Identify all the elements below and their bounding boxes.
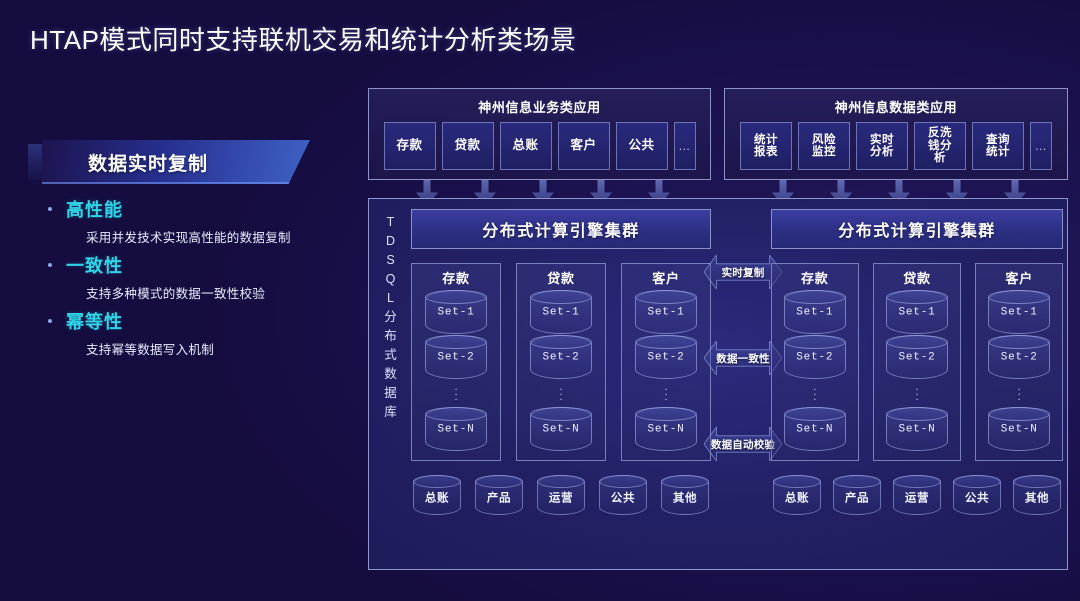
database-label: 产品 bbox=[834, 489, 880, 505]
feature-bullet-list: 高性能 采用并发技术实现高性能的数据复制 一致性 支持多种模式的数据一致性校验 … bbox=[28, 196, 358, 358]
set-column: 贷款 Set-1 Set-2 ... Set-N bbox=[516, 263, 606, 461]
set-column-row: 存款 Set-1 Set-2 ... Set-N 贷款 Set-1 Set-2 … bbox=[771, 263, 1063, 461]
badge-wrapper: 数据一致性 bbox=[709, 341, 777, 375]
badge-wrapper: 实时复制 bbox=[709, 255, 777, 289]
set-label: Set-N bbox=[887, 424, 947, 436]
page-title: HTAP模式同时支持联机交易和统计分析类场景 bbox=[30, 20, 576, 57]
app-cell[interactable]: 统计 报表 bbox=[740, 122, 792, 170]
list-item: 幂等性 支持幂等数据写入机制 bbox=[28, 308, 358, 358]
database-cylinder-icon[interactable]: 产品 bbox=[475, 475, 523, 515]
database-cylinder-icon[interactable]: 总账 bbox=[413, 475, 461, 515]
badge-wrapper: 数据自动校验 bbox=[709, 427, 777, 461]
replication-badge-column: 实时复制 数据一致性 数据自动校验 bbox=[709, 209, 777, 561]
database-cylinder-icon[interactable]: 其他 bbox=[1013, 475, 1061, 515]
set-label: Set-N bbox=[989, 424, 1049, 436]
bullet-description: 采用并发技术实现高性能的数据复制 bbox=[86, 227, 358, 246]
set-label: Set-2 bbox=[785, 352, 845, 364]
vertical-ellipsis-icon: ... bbox=[772, 380, 858, 406]
set-label: Set-1 bbox=[887, 307, 947, 319]
database-cylinder-icon[interactable]: Set-2 bbox=[425, 335, 487, 379]
app-cell[interactable]: 客户 bbox=[558, 122, 610, 170]
database-label: 公共 bbox=[600, 489, 646, 505]
bullet-description: 支持多种模式的数据一致性校验 bbox=[86, 283, 358, 302]
set-column-title: 存款 bbox=[772, 268, 858, 287]
database-cylinder-icon[interactable]: 公共 bbox=[599, 475, 647, 515]
database-label: 产品 bbox=[476, 489, 522, 505]
bullet-heading-row: 一致性 bbox=[28, 252, 358, 278]
vertical-ellipsis-icon: ... bbox=[976, 380, 1062, 406]
app-group-title: 神州信息数据类应用 bbox=[725, 97, 1067, 116]
vertical-ellipsis-icon: ... bbox=[874, 380, 960, 406]
app-cell[interactable]: 公共 bbox=[616, 122, 668, 170]
database-cylinder-icon[interactable]: Set-1 bbox=[784, 290, 846, 334]
vertical-ellipsis-icon: ... bbox=[412, 380, 500, 406]
database-label: 运营 bbox=[894, 489, 940, 505]
database-label: 其他 bbox=[1014, 489, 1060, 505]
database-cylinder-icon[interactable]: Set-2 bbox=[886, 335, 948, 379]
vertical-ellipsis-icon: ... bbox=[622, 380, 710, 406]
database-cylinder-icon[interactable]: Set-N bbox=[886, 407, 948, 451]
list-item: 高性能 采用并发技术实现高性能的数据复制 bbox=[28, 196, 358, 246]
platform-half-left: 分布式计算引擎集群 存款 Set-1 Set-2 ... Set-N 贷款 Se… bbox=[411, 209, 711, 561]
set-label: Set-1 bbox=[531, 307, 591, 319]
tdsql-platform-panel: T D S Q L 分 布 式 数 据 库 分布式计算引擎集群 存款 Set-1… bbox=[368, 198, 1068, 570]
app-cell[interactable]: 风险 监控 bbox=[798, 122, 850, 170]
app-cell-row: 统计 报表 风险 监控 实时 分析 反洗 钱分 析 查询 统计 ... bbox=[725, 116, 1067, 170]
bullet-title: 幂等性 bbox=[66, 308, 123, 334]
database-label: 总账 bbox=[774, 489, 820, 505]
compute-engine-cluster[interactable]: 分布式计算引擎集群 bbox=[771, 209, 1063, 249]
vertical-ellipsis-icon: ... bbox=[517, 380, 605, 406]
bullet-heading-row: 幂等性 bbox=[28, 308, 358, 334]
database-cylinder-icon[interactable]: Set-2 bbox=[635, 335, 697, 379]
bullet-dot-icon bbox=[48, 263, 52, 267]
database-cylinder-icon[interactable]: Set-1 bbox=[635, 290, 697, 334]
banner-shape: 数据实时复制 bbox=[42, 140, 310, 184]
shared-database-row: 总账 产品 运营 公共 其他 bbox=[411, 475, 711, 515]
database-cylinder-icon[interactable]: Set-1 bbox=[886, 290, 948, 334]
app-group-data: 神州信息数据类应用 统计 报表 风险 监控 实时 分析 反洗 钱分 析 查询 统… bbox=[724, 88, 1068, 180]
database-label: 公共 bbox=[954, 489, 1000, 505]
app-cell-more[interactable]: ... bbox=[1030, 122, 1052, 170]
database-cylinder-icon[interactable]: Set-N bbox=[530, 407, 592, 451]
app-cell[interactable]: 反洗 钱分 析 bbox=[914, 122, 966, 170]
set-label: Set-N bbox=[785, 424, 845, 436]
set-column: 存款 Set-1 Set-2 ... Set-N bbox=[411, 263, 501, 461]
set-column-title: 贷款 bbox=[517, 268, 605, 287]
set-column: 存款 Set-1 Set-2 ... Set-N bbox=[771, 263, 859, 461]
database-cylinder-icon[interactable]: 公共 bbox=[953, 475, 1001, 515]
set-label: Set-2 bbox=[531, 352, 591, 364]
database-cylinder-icon[interactable]: Set-2 bbox=[530, 335, 592, 379]
bullet-description: 支持幂等数据写入机制 bbox=[86, 339, 358, 358]
database-label: 运营 bbox=[538, 489, 584, 505]
set-label: Set-1 bbox=[636, 307, 696, 319]
bullet-dot-icon bbox=[48, 319, 52, 323]
set-label: Set-1 bbox=[989, 307, 1049, 319]
set-label: Set-1 bbox=[785, 307, 845, 319]
app-cell[interactable]: 实时 分析 bbox=[856, 122, 908, 170]
set-column: 客户 Set-1 Set-2 ... Set-N bbox=[975, 263, 1063, 461]
set-label: Set-1 bbox=[426, 307, 486, 319]
set-label: Set-2 bbox=[426, 352, 486, 364]
app-group-business: 神州信息业务类应用 存款 贷款 总账 客户 公共 ... bbox=[368, 88, 711, 180]
database-cylinder-icon[interactable]: 其他 bbox=[661, 475, 709, 515]
set-label: Set-2 bbox=[887, 352, 947, 364]
section-banner: 数据实时复制 bbox=[28, 140, 358, 184]
app-cell[interactable]: 存款 bbox=[384, 122, 436, 170]
database-cylinder-icon[interactable]: Set-N bbox=[784, 407, 846, 451]
left-content-panel: 数据实时复制 高性能 采用并发技术实现高性能的数据复制 一致性 支持多种模式的数… bbox=[28, 140, 358, 364]
bullet-title: 高性能 bbox=[66, 196, 123, 222]
database-cylinder-icon[interactable]: Set-1 bbox=[425, 290, 487, 334]
database-label: 其他 bbox=[662, 489, 708, 505]
set-label: Set-2 bbox=[989, 352, 1049, 364]
database-cylinder-icon[interactable]: 产品 bbox=[833, 475, 881, 515]
database-cylinder-icon[interactable]: Set-N bbox=[988, 407, 1050, 451]
set-column: 贷款 Set-1 Set-2 ... Set-N bbox=[873, 263, 961, 461]
set-label: Set-N bbox=[426, 424, 486, 436]
set-column-title: 客户 bbox=[976, 268, 1062, 287]
database-cylinder-icon[interactable]: Set-1 bbox=[530, 290, 592, 334]
set-column-row: 存款 Set-1 Set-2 ... Set-N 贷款 Set-1 Set-2 … bbox=[411, 263, 711, 461]
database-cylinder-icon[interactable]: 运营 bbox=[893, 475, 941, 515]
banner-label: 数据实时复制 bbox=[88, 149, 208, 176]
set-label: Set-N bbox=[636, 424, 696, 436]
list-item: 一致性 支持多种模式的数据一致性校验 bbox=[28, 252, 358, 302]
bullet-heading-row: 高性能 bbox=[28, 196, 358, 222]
database-cylinder-icon[interactable]: Set-2 bbox=[784, 335, 846, 379]
app-cell[interactable]: 查询 统计 bbox=[972, 122, 1024, 170]
database-cylinder-icon[interactable]: 总账 bbox=[773, 475, 821, 515]
database-cylinder-icon[interactable]: Set-N bbox=[425, 407, 487, 451]
database-cylinder-icon[interactable]: Set-1 bbox=[988, 290, 1050, 334]
app-cell-more[interactable]: ... bbox=[674, 122, 696, 170]
database-cylinder-icon[interactable]: 运营 bbox=[537, 475, 585, 515]
database-cylinder-icon[interactable]: Set-N bbox=[635, 407, 697, 451]
app-cell[interactable]: 总账 bbox=[500, 122, 552, 170]
set-column: 客户 Set-1 Set-2 ... Set-N bbox=[621, 263, 711, 461]
app-group-title: 神州信息业务类应用 bbox=[369, 97, 710, 116]
set-column-title: 贷款 bbox=[874, 268, 960, 287]
compute-engine-cluster[interactable]: 分布式计算引擎集群 bbox=[411, 209, 711, 249]
platform-vertical-label: T D S Q L 分 布 式 数 据 库 bbox=[379, 213, 403, 422]
architecture-diagram: 神州信息业务类应用 存款 贷款 总账 客户 公共 ... 神州信息数据类应用 统… bbox=[368, 88, 1068, 570]
platform-half-right: 分布式计算引擎集群 存款 Set-1 Set-2 ... Set-N 贷款 Se… bbox=[771, 209, 1063, 561]
app-cell-row: 存款 贷款 总账 客户 公共 ... bbox=[369, 116, 710, 170]
app-cell[interactable]: 贷款 bbox=[442, 122, 494, 170]
set-label: Set-N bbox=[531, 424, 591, 436]
bullet-dot-icon bbox=[48, 207, 52, 211]
set-label: Set-2 bbox=[636, 352, 696, 364]
set-column-title: 客户 bbox=[622, 268, 710, 287]
database-cylinder-icon[interactable]: Set-2 bbox=[988, 335, 1050, 379]
shared-database-row: 总账 产品 运营 公共 其他 bbox=[771, 475, 1063, 515]
set-column-title: 存款 bbox=[412, 268, 500, 287]
database-label: 总账 bbox=[414, 489, 460, 505]
bullet-title: 一致性 bbox=[66, 252, 123, 278]
